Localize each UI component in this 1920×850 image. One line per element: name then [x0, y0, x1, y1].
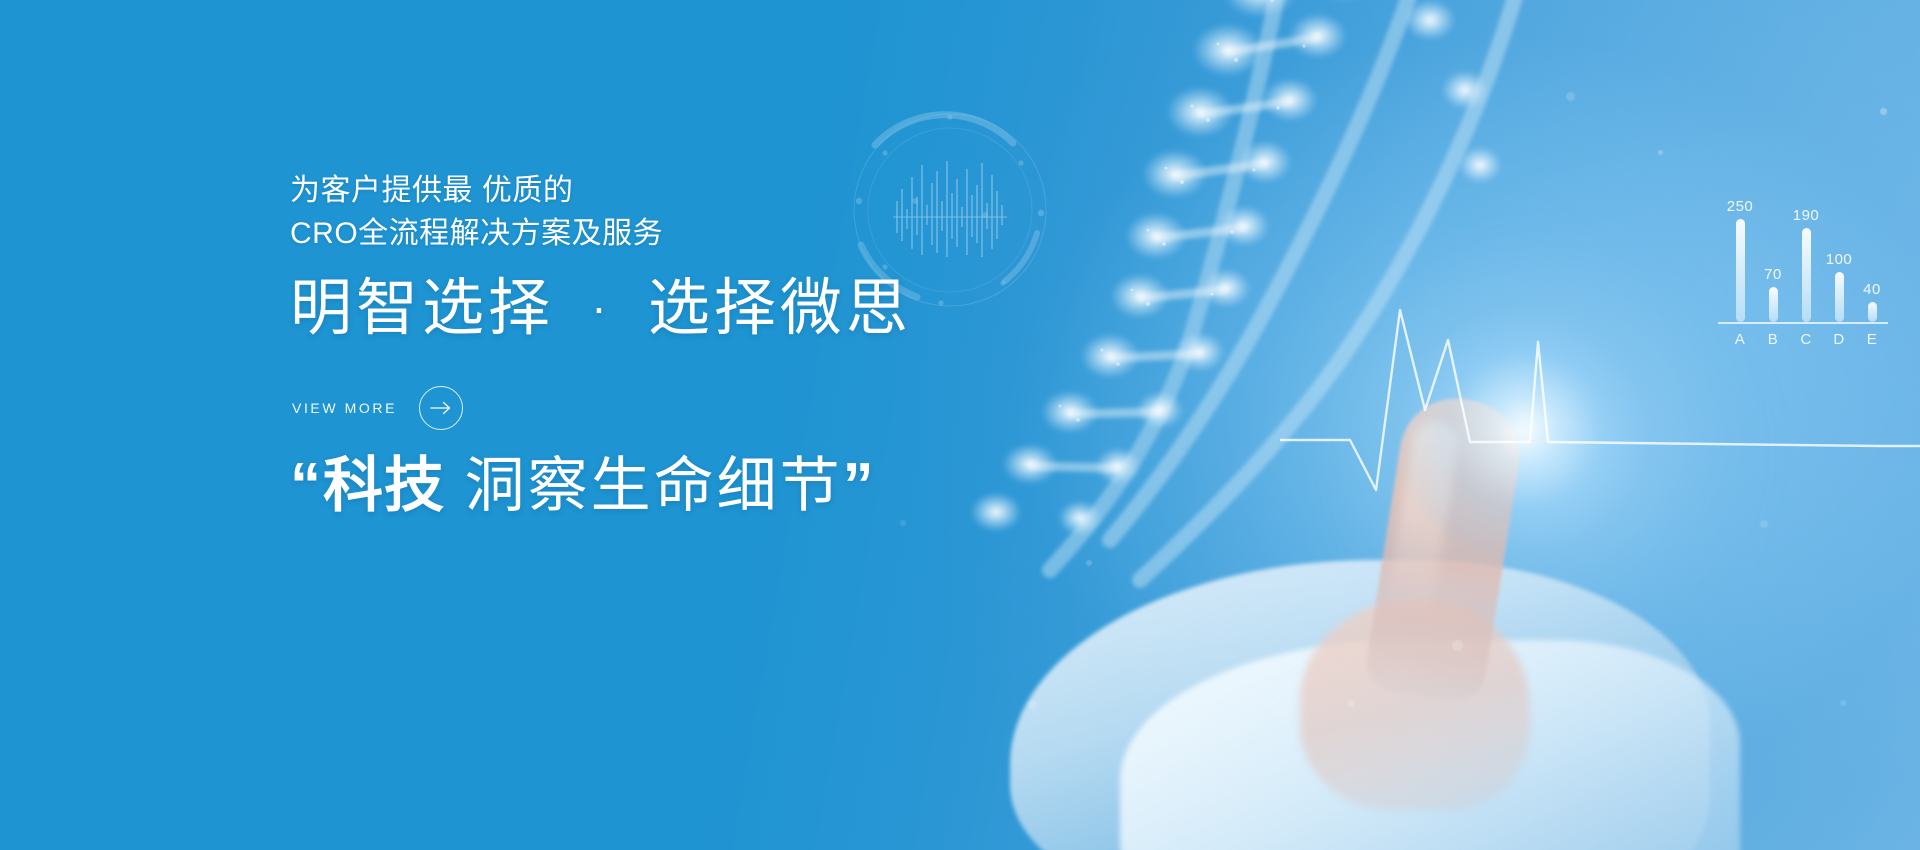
chart-bar	[1736, 219, 1745, 322]
bokeh-dot	[1566, 92, 1575, 101]
chart-category-label: B	[1759, 331, 1787, 348]
bokeh-dot	[1760, 520, 1768, 528]
view-more-label: VIEW MORE	[292, 400, 397, 416]
finger-highlight	[1385, 418, 1462, 623]
chart-value-label: 250	[1727, 198, 1754, 215]
chart-bar	[1868, 302, 1877, 322]
headline-separator: ·	[575, 281, 626, 333]
chart-column: 40	[1858, 198, 1886, 322]
quote-open-mark: “	[290, 451, 323, 520]
bokeh-dot	[1452, 640, 1463, 651]
chart-column: 250	[1726, 198, 1754, 322]
hero-quote: “科技 洞察生命细节”	[290, 452, 876, 520]
view-more-button[interactable]: VIEW MORE	[292, 386, 463, 430]
pointing-finger	[1362, 390, 1527, 705]
chart-column: 70	[1759, 198, 1787, 322]
chart-category-label: D	[1825, 331, 1853, 348]
bokeh-dot	[1880, 108, 1887, 115]
heartbeat-line	[1280, 300, 1920, 525]
bokeh-dot	[1658, 150, 1663, 155]
chart-category-label: C	[1792, 331, 1820, 348]
hero-subtitle: 为客户提供最 优质的 CRO全流程解决方案及服务	[290, 170, 663, 255]
heartbeat-svg	[1280, 300, 1920, 520]
headline-right: 选择微思	[648, 274, 912, 343]
chart-value-label: 100	[1826, 251, 1853, 268]
chart-baseline	[1718, 322, 1888, 324]
hero-headline: 明智选择 · 选择微思	[290, 275, 912, 343]
bokeh-dot	[1840, 700, 1846, 706]
chart-bar	[1835, 272, 1844, 322]
chart-category-label: A	[1726, 331, 1754, 348]
quote-light: 洞察生命细节	[445, 452, 843, 519]
chart-bar	[1769, 287, 1778, 322]
sleeve-shape	[1120, 640, 1740, 850]
quote-strong: 科技	[323, 452, 445, 519]
headline-left: 明智选择	[290, 274, 554, 343]
subtitle-line-2: CRO全流程解决方案及服务	[290, 213, 663, 256]
fingertip-glow	[1395, 300, 1655, 560]
chart-category-label: E	[1858, 331, 1886, 348]
chart-value-label: 70	[1764, 266, 1782, 283]
hero-copy: 为客户提供最 优质的 CRO全流程解决方案及服务 明智选择 · 选择微思 VIE…	[290, 0, 1190, 850]
chart-bars: 250 70 190 100 40	[1726, 198, 1886, 322]
bokeh-dot	[1348, 700, 1355, 707]
arrow-right-icon[interactable]	[419, 386, 463, 430]
chart-column: 190	[1792, 198, 1820, 322]
quote-close-mark: ”	[843, 451, 876, 520]
subtitle-line-1: 为客户提供最 优质的	[290, 170, 663, 213]
chart-value-label: 40	[1863, 281, 1881, 298]
chart-column: 100	[1825, 198, 1853, 322]
hand-knuckle	[1300, 600, 1530, 810]
mini-bar-chart: 250 70 190 100 40	[1718, 190, 1898, 350]
chart-category-labels: A B C D E	[1726, 331, 1886, 348]
hero-banner: 250 70 190 100 40	[0, 0, 1920, 850]
chart-value-label: 190	[1793, 207, 1820, 224]
chart-bar	[1802, 228, 1811, 322]
arrow-right-glyph	[430, 401, 452, 415]
background-glow-outer	[1330, 250, 1760, 650]
